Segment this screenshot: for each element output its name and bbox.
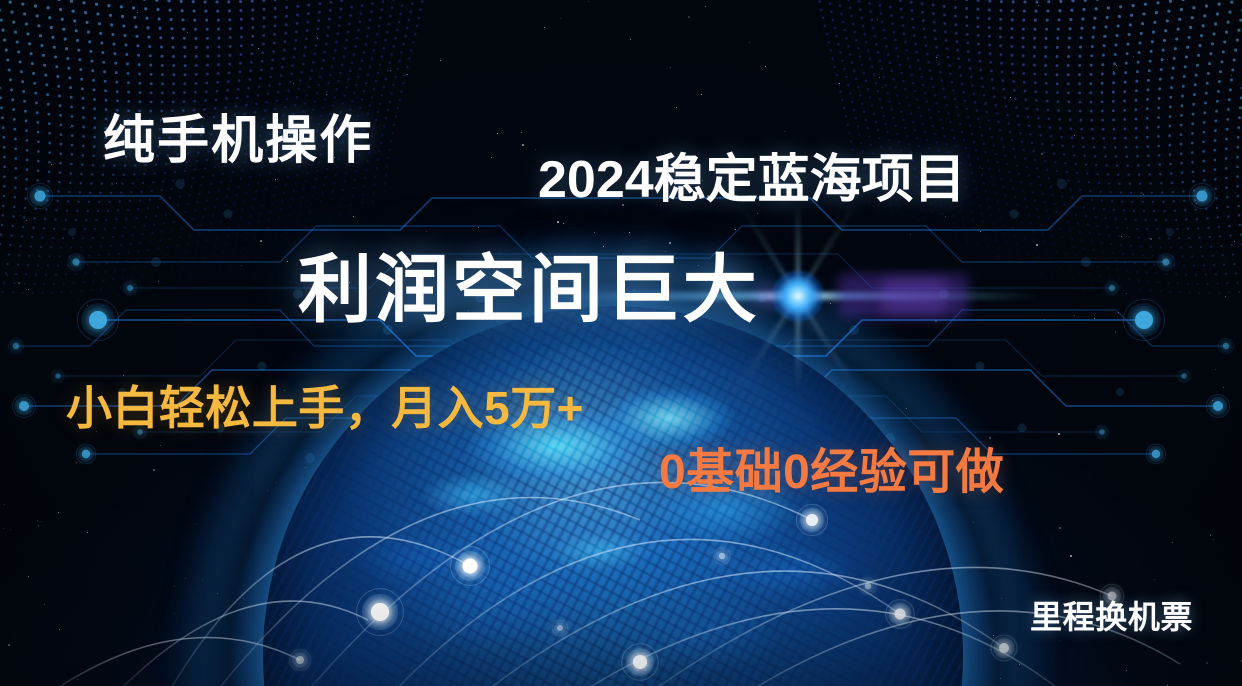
promo-banner: 纯手机操作 2024稳定蓝海项目 利润空间巨大 小白轻松上手，月入5万+ 0基础…	[0, 0, 1242, 686]
tagline-text: 里程换机票	[1030, 592, 1193, 638]
main-headline: 利润空间巨大	[298, 230, 760, 337]
kicker-left-text: 纯手机操作	[103, 98, 373, 173]
kicker-right-text: 2024稳定蓝海项目	[538, 137, 966, 212]
subheadline-orange: 0基础0经验可做	[659, 432, 1004, 502]
subheadline-gold: 小白轻松上手，月入5万+	[66, 372, 584, 438]
